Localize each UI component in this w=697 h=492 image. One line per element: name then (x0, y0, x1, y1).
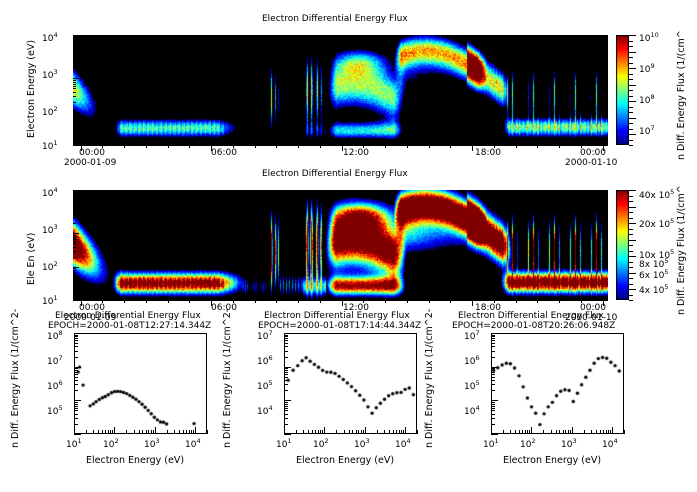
tick-mark (559, 145, 560, 148)
tick-mark (74, 374, 78, 375)
tick-mark (529, 430, 530, 434)
tick-mark (407, 145, 408, 148)
spectrum-2-xtick-3: 104 (395, 437, 411, 450)
spectrogram-bottom-ytick-1: 103 (42, 223, 58, 236)
tick-mark (401, 430, 402, 434)
tick-mark (581, 300, 582, 303)
tick-mark (407, 300, 408, 303)
spectrogram-top-ytick-1: 103 (42, 68, 58, 81)
tick-mark (73, 58, 76, 59)
spectrum-2-xtick-2: 103 (354, 437, 370, 450)
tick-mark (73, 47, 76, 48)
tick-mark (559, 300, 560, 303)
tick-mark (81, 300, 82, 306)
tick-mark (284, 374, 288, 375)
tick-mark (74, 346, 78, 347)
tick-mark (284, 406, 288, 407)
tick-mark (522, 430, 523, 434)
tick-mark (591, 430, 592, 434)
tick-mark (491, 406, 495, 407)
spectrum-1-plot[interactable] (74, 333, 207, 434)
spectrum-3-plot[interactable] (491, 333, 624, 434)
tick-mark (629, 57, 633, 58)
tick-mark (322, 430, 323, 434)
tick-mark (186, 430, 187, 434)
spectrum-2-ytick-0: 107 (257, 329, 273, 342)
tick-mark (385, 300, 386, 303)
tick-mark (183, 430, 184, 434)
tick-mark (629, 96, 633, 97)
spectrum-2-plot[interactable] (284, 333, 417, 434)
spectrum-3-xtick-0: 101 (483, 437, 499, 450)
tick-mark (629, 129, 633, 130)
tick-mark (73, 207, 76, 208)
tick-mark (491, 351, 495, 352)
tick-mark (629, 190, 636, 191)
spectrogram-bottom-colorbar[interactable] (616, 190, 629, 300)
tick-mark (73, 50, 76, 51)
spectrum-1-ytick-0: 108 (47, 329, 63, 342)
tick-mark (73, 52, 76, 53)
tick-mark (491, 402, 495, 403)
tick-mark (491, 400, 498, 401)
tick-mark (168, 300, 169, 303)
tick-mark (73, 239, 76, 240)
tick-mark (284, 400, 291, 401)
tick-mark (491, 368, 495, 369)
tick-mark (284, 390, 288, 391)
spectrogram-top-colorbar[interactable] (616, 35, 629, 145)
spectrum-2-ylabel: n Diff. Energy Flux (1/(cm^2- (222, 318, 233, 448)
tick-mark (603, 430, 604, 434)
tick-mark (284, 424, 288, 425)
tick-mark (74, 372, 78, 373)
tick-mark (629, 140, 633, 141)
tick-mark (73, 112, 79, 113)
tick-mark (629, 112, 633, 113)
tick-mark (284, 346, 288, 347)
tick-mark (629, 273, 636, 274)
tick-mark (74, 335, 78, 336)
tick-mark (146, 430, 147, 434)
tick-mark (516, 145, 517, 148)
tick-mark (491, 333, 498, 334)
tick-mark (73, 68, 76, 69)
tick-mark (74, 404, 78, 405)
tick-mark (73, 299, 79, 300)
tick-mark (73, 237, 76, 238)
tick-mark (73, 55, 76, 56)
tick-mark (73, 113, 76, 114)
tick-mark (629, 46, 633, 47)
tick-mark (73, 82, 76, 83)
tick-mark (74, 336, 78, 337)
tick-mark (405, 427, 406, 434)
tick-mark (191, 430, 192, 434)
tick-mark (629, 90, 633, 91)
tick-mark (584, 430, 585, 434)
tick-mark (73, 284, 76, 285)
spectrogram-top-ylabel: Electron Energy (eV) (26, 38, 37, 138)
spectrum-1-epoch: EPOCH=2000-01-08T12:27:14.344Z (48, 321, 211, 331)
spectrum-3-xtick-3: 104 (602, 437, 618, 450)
tick-mark (155, 427, 156, 434)
tick-mark (450, 300, 451, 303)
tick-mark (358, 430, 359, 434)
tick-mark (167, 430, 168, 434)
tick-mark (108, 430, 109, 434)
tick-mark (624, 430, 625, 434)
tick-mark (606, 430, 607, 434)
tick-mark (450, 145, 451, 148)
tick-mark (74, 390, 78, 391)
spectrum-3-ytick-1: 106 (464, 354, 480, 367)
tick-mark (296, 430, 297, 434)
tick-mark (193, 430, 194, 434)
tick-mark (429, 145, 430, 148)
tick-mark (74, 367, 81, 368)
tick-mark (491, 424, 495, 425)
spectrum-2-ytick-1: 106 (257, 354, 273, 367)
spectrum-2-epoch: EPOCH=2000-01-08T17:14:44.344Z (258, 321, 421, 331)
tick-mark (73, 223, 76, 224)
tick-mark (74, 368, 78, 369)
colorbar-top-tick-1: 109 (639, 62, 655, 75)
tick-mark (516, 300, 517, 303)
tick-mark (491, 404, 495, 405)
tick-mark (581, 145, 582, 148)
tick-mark (73, 122, 76, 123)
tick-mark (629, 63, 633, 64)
tick-mark (629, 134, 636, 135)
tick-mark (73, 84, 76, 85)
tick-mark (284, 336, 288, 337)
tick-mark (168, 145, 169, 148)
tick-mark (324, 427, 325, 434)
tick-mark (491, 377, 495, 378)
spectrum-3-xtick-1: 102 (520, 437, 536, 450)
tick-mark (284, 370, 288, 371)
tick-mark (86, 430, 87, 434)
tick-mark (629, 300, 633, 301)
tick-mark (551, 430, 552, 434)
tick-mark (308, 430, 309, 434)
tick-mark (491, 357, 495, 358)
spectrogram-top-plot[interactable] (73, 35, 608, 145)
spectrum-1-ytick-3: 105 (47, 404, 63, 417)
tick-mark (608, 430, 609, 434)
tick-mark (284, 414, 288, 415)
tick-mark (491, 346, 495, 347)
tick-mark (417, 430, 418, 434)
tick-mark (211, 300, 212, 306)
spectrum-2-xlabel: Electron Energy (eV) (296, 455, 394, 466)
tick-mark (73, 190, 76, 191)
tick-mark (195, 427, 196, 434)
spectrum-2-xtick-0: 101 (276, 437, 292, 450)
tick-mark (629, 229, 633, 230)
tick-mark (603, 300, 604, 306)
tick-mark (556, 430, 557, 434)
colorbar-bottom-tick-5: 4x 105 (639, 283, 669, 296)
tick-mark (629, 123, 633, 124)
tick-mark (73, 135, 76, 136)
tick-mark (73, 210, 76, 211)
tick-mark (612, 427, 613, 434)
tick-mark (73, 119, 76, 120)
tick-mark (491, 427, 492, 434)
tick-mark (211, 145, 212, 151)
tick-mark (491, 338, 495, 339)
spectrum-3-title: Electron Differential Energy Flux (458, 311, 604, 321)
tick-mark (363, 300, 364, 303)
tick-mark (74, 370, 78, 371)
tick-mark (629, 240, 636, 241)
tick-mark (276, 300, 277, 303)
tick-mark (384, 430, 385, 434)
tick-mark (503, 430, 504, 434)
tick-mark (189, 430, 190, 434)
tick-mark (629, 218, 633, 219)
tick-mark (74, 414, 78, 415)
tick-mark (73, 35, 76, 36)
tick-mark (233, 145, 234, 148)
colorbar-bottom-tick-1: 20x 105 (639, 217, 674, 230)
tick-mark (356, 430, 357, 434)
tick-mark (629, 145, 633, 146)
tick-mark (284, 333, 291, 334)
tick-mark (102, 145, 103, 148)
tick-mark (114, 427, 115, 434)
spectrum-3-ytick-0: 107 (464, 329, 480, 342)
tick-mark (284, 367, 291, 368)
tick-mark (73, 268, 76, 269)
tick-mark (342, 300, 343, 306)
tick-mark (491, 384, 495, 385)
tick-mark (74, 380, 78, 381)
tick-mark (284, 340, 288, 341)
tick-mark (543, 430, 544, 434)
tick-mark (284, 343, 288, 344)
tick-mark (73, 290, 76, 291)
tick-mark (629, 201, 633, 202)
tick-mark (377, 430, 378, 434)
tick-mark (603, 145, 604, 151)
tick-mark (629, 79, 633, 80)
tick-mark (73, 88, 76, 89)
tick-mark (494, 145, 495, 148)
tick-mark (570, 430, 571, 434)
spectrum-3-ytick-2: 105 (464, 379, 480, 392)
tick-mark (494, 300, 495, 303)
tick-mark (320, 300, 321, 303)
tick-mark (385, 145, 386, 148)
tick-mark (74, 424, 78, 425)
spectrogram-top-ytick-0: 104 (42, 31, 58, 44)
tick-mark (565, 430, 566, 434)
tick-mark (472, 300, 473, 306)
tick-mark (179, 430, 180, 434)
tick-mark (472, 145, 473, 151)
tick-mark (73, 129, 76, 130)
tick-mark (73, 274, 76, 275)
tick-mark (491, 380, 495, 381)
tick-mark (73, 300, 79, 301)
tick-mark (393, 430, 394, 434)
colorbar-bottom-label: n Diff. Energy Flux (1/(cm^ (676, 185, 687, 315)
tick-mark (320, 430, 321, 434)
tick-mark (568, 430, 569, 434)
spectrum-1-xtick-1: 102 (103, 437, 119, 450)
tick-mark (74, 340, 78, 341)
spectrum-1-xlabel: Electron Energy (eV) (86, 455, 184, 466)
tick-mark (629, 207, 636, 208)
tick-mark (151, 430, 152, 434)
tick-mark (174, 430, 175, 434)
tick-mark (276, 145, 277, 148)
spectrogram-bottom-ytick-2: 102 (42, 260, 58, 273)
tick-mark (124, 145, 125, 148)
tick-mark (189, 145, 190, 148)
spectrogram-top-xtick-1: 06:00 (211, 148, 237, 158)
tick-mark (73, 280, 76, 281)
tick-mark (105, 430, 106, 434)
tick-mark (284, 427, 285, 434)
spectrum-3-ylabel: n Diff. Energy Flux (1/(cm^2- (424, 318, 435, 448)
tick-mark (315, 430, 316, 434)
tick-mark (629, 256, 636, 257)
tick-mark (284, 357, 288, 358)
tick-mark (284, 408, 288, 409)
tick-mark (74, 434, 81, 435)
colorbar-bottom-tick-4: 6x 105 (639, 268, 669, 281)
tick-mark (74, 377, 78, 378)
tick-mark (73, 235, 76, 236)
tick-mark (491, 374, 495, 375)
tick-mark (73, 277, 76, 278)
spectrum-2-ytick-2: 105 (257, 379, 273, 392)
tick-mark (139, 430, 140, 434)
tick-mark (284, 410, 288, 411)
spectrogram-top-xtick-0: 00:00 (79, 148, 105, 158)
tick-mark (399, 430, 400, 434)
tick-mark (74, 406, 78, 407)
tick-mark (98, 430, 99, 434)
tick-mark (73, 86, 76, 87)
tick-mark (403, 430, 404, 434)
tick-mark (74, 343, 78, 344)
tick-mark (519, 430, 520, 434)
tick-mark (629, 41, 633, 42)
tick-mark (629, 295, 633, 296)
tick-mark (73, 272, 76, 273)
tick-mark (629, 223, 636, 224)
tick-mark (429, 300, 430, 303)
spectrogram-bottom-ytick-3: 101 (42, 294, 58, 307)
tick-mark (207, 430, 208, 434)
tick-mark (102, 430, 103, 434)
tick-mark (73, 202, 76, 203)
tick-mark (284, 377, 288, 378)
tick-mark (73, 205, 76, 206)
spectrogram-bottom-plot[interactable] (73, 190, 608, 300)
tick-mark (491, 343, 495, 344)
tick-mark (73, 144, 79, 145)
spectrum-3-ytick-3: 104 (464, 404, 480, 417)
tick-mark (153, 430, 154, 434)
tick-mark (73, 247, 76, 248)
tick-mark (112, 430, 113, 434)
tick-mark (73, 241, 76, 242)
tick-mark (73, 213, 76, 214)
tick-mark (491, 335, 495, 336)
tick-mark (73, 267, 79, 268)
spectrum-1-ytick-1: 107 (47, 354, 63, 367)
tick-mark (298, 145, 299, 148)
tick-mark (284, 404, 288, 405)
tick-mark (74, 338, 78, 339)
tick-mark (491, 410, 495, 411)
tick-mark (189, 300, 190, 303)
tick-mark (73, 45, 79, 46)
tick-mark (312, 430, 313, 434)
spectrogram-top-xdate-left: 2000-01-09 (64, 158, 116, 168)
tick-mark (73, 115, 76, 116)
spectrum-2-xtick-1: 102 (313, 437, 329, 450)
tick-mark (629, 267, 633, 268)
tick-mark (126, 430, 127, 434)
tick-mark (363, 145, 364, 148)
tick-mark (344, 430, 345, 434)
tick-mark (527, 430, 528, 434)
tick-mark (342, 145, 343, 151)
tick-mark (298, 300, 299, 303)
tick-mark (81, 145, 82, 151)
tick-mark (73, 102, 76, 103)
tick-mark (73, 48, 76, 49)
tick-mark (284, 338, 288, 339)
tick-mark (510, 430, 511, 434)
tick-mark (491, 414, 495, 415)
tick-mark (629, 52, 636, 53)
tick-mark (73, 243, 76, 244)
tick-mark (629, 212, 633, 213)
tick-mark (73, 78, 79, 79)
tick-mark (73, 233, 79, 234)
tick-mark (74, 402, 78, 403)
tick-mark (525, 430, 526, 434)
tick-mark (515, 430, 516, 434)
spectrogram-top-axis-frame (73, 145, 608, 146)
tick-mark (629, 284, 633, 285)
tick-mark (537, 300, 538, 303)
tick-mark (74, 427, 75, 434)
tick-mark (74, 333, 81, 334)
tick-mark (284, 402, 288, 403)
tick-mark (320, 145, 321, 148)
tick-mark (284, 418, 288, 419)
tick-mark (74, 410, 78, 411)
spectrogram-top-ytick-2: 102 (42, 105, 58, 118)
tick-mark (629, 74, 633, 75)
tick-mark (531, 427, 532, 434)
tick-mark (318, 430, 319, 434)
spectrum-3-xtick-2: 103 (561, 437, 577, 450)
tick-mark (491, 390, 495, 391)
spectrum-1-title: Electron Differential Energy Flux (55, 311, 201, 321)
tick-mark (134, 430, 135, 434)
tick-mark (73, 217, 76, 218)
